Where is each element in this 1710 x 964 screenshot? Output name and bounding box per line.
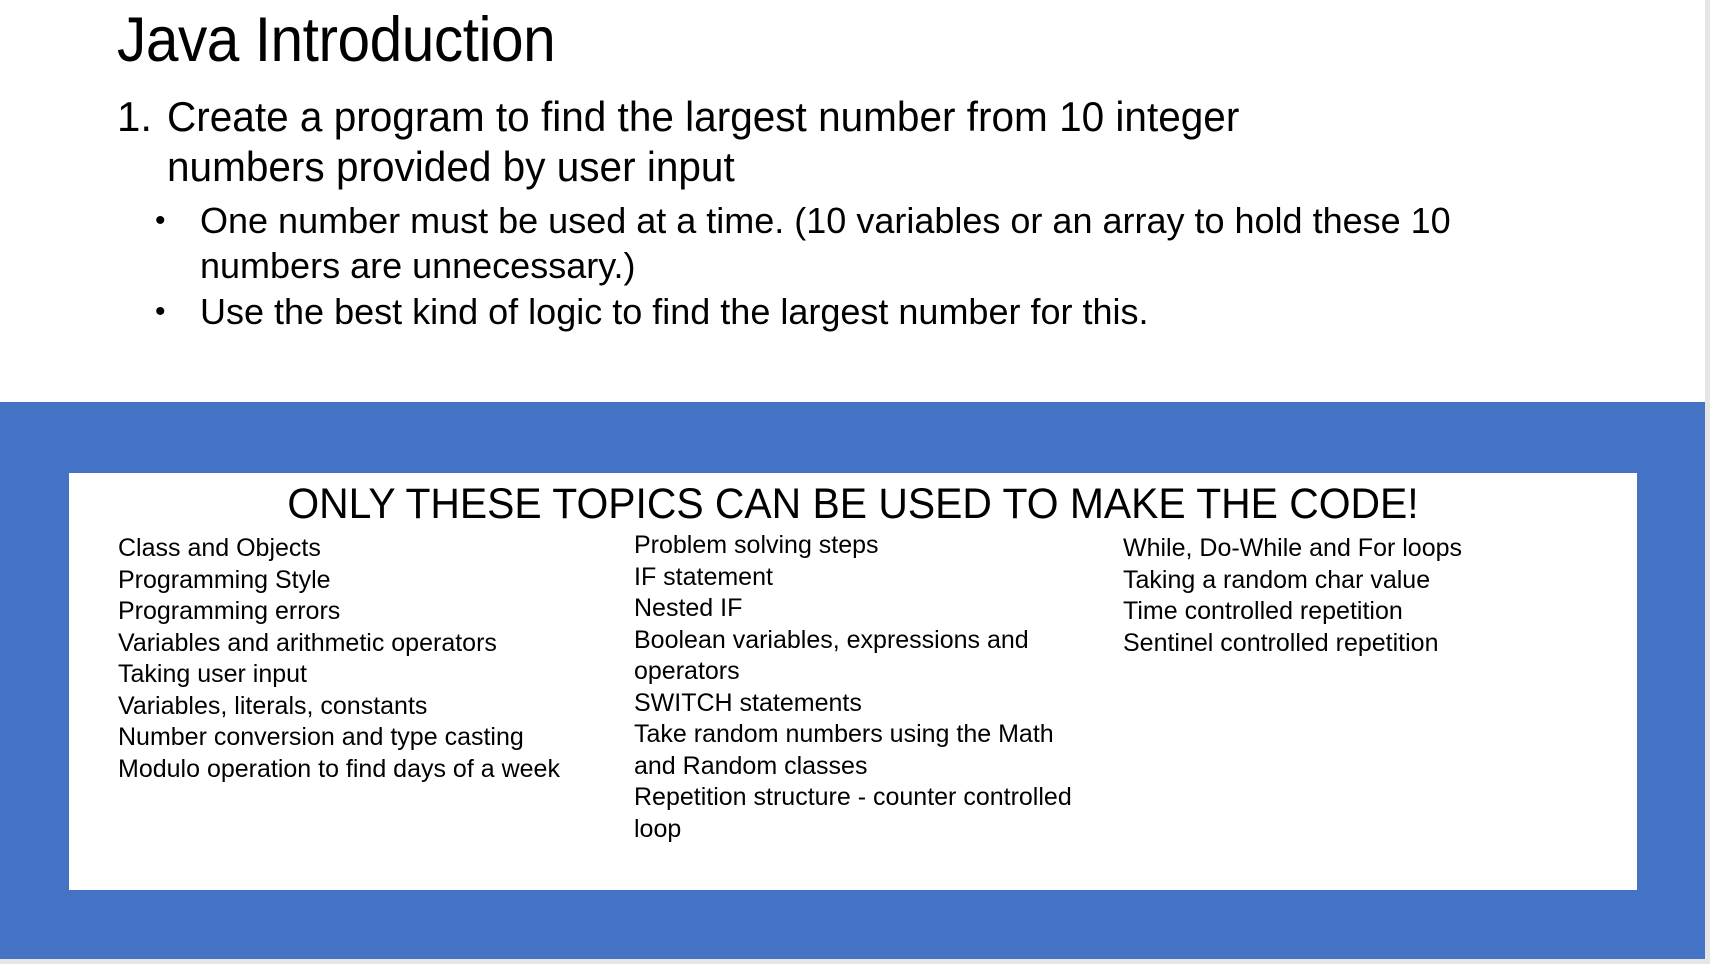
sub-bullet-list: • One number must be used at a time. (10… bbox=[155, 198, 1555, 335]
topic-item: Programming errors bbox=[118, 596, 588, 628]
topic-item: Sentinel controlled repetition bbox=[1123, 628, 1543, 660]
topic-item: Taking a random char value bbox=[1123, 565, 1543, 597]
topics-column-2: Problem solving steps IF statement Neste… bbox=[634, 530, 1099, 845]
topics-box: ONLY THESE TOPICS CAN BE USED TO MAKE TH… bbox=[69, 473, 1637, 890]
topic-item: SWITCH statements bbox=[634, 688, 1099, 720]
topic-item: Boolean variables, expressions and opera… bbox=[634, 625, 1099, 688]
numbered-list-item: 1. Create a program to find the largest … bbox=[117, 92, 1517, 192]
topic-item: Taking user input bbox=[118, 659, 588, 691]
page-title: Java Introduction bbox=[117, 4, 555, 76]
topic-item: Programming Style bbox=[118, 565, 588, 597]
topics-box-heading: ONLY THESE TOPICS CAN BE USED TO MAKE TH… bbox=[108, 479, 1598, 529]
slide-edge-bottom bbox=[0, 959, 1710, 964]
numbered-list: 1. Create a program to find the largest … bbox=[117, 92, 1517, 192]
topic-item: Modulo operation to find days of a week bbox=[118, 754, 588, 786]
bullet-dot-icon: • bbox=[155, 198, 200, 243]
topic-item: Repetition structure - counter controlle… bbox=[634, 782, 1099, 845]
numbered-list-item-text: Create a program to find the largest num… bbox=[167, 92, 1253, 192]
topic-item: Problem solving steps bbox=[634, 530, 1099, 562]
sub-bullet-item: • One number must be used at a time. (10… bbox=[155, 198, 1555, 288]
topics-columns: Class and Objects Programming Style Prog… bbox=[69, 533, 1637, 883]
bullet-dot-icon: • bbox=[155, 289, 200, 334]
list-number-marker: 1. bbox=[117, 92, 167, 142]
topic-item: Number conversion and type casting bbox=[118, 722, 588, 754]
topic-item: Time controlled repetition bbox=[1123, 596, 1543, 628]
topics-column-1: Class and Objects Programming Style Prog… bbox=[118, 533, 588, 785]
topics-column-3: While, Do-While and For loops Taking a r… bbox=[1123, 533, 1543, 659]
topic-item: Class and Objects bbox=[118, 533, 588, 565]
topic-item: Nested IF bbox=[634, 593, 1099, 625]
topic-item: Variables, literals, constants bbox=[118, 691, 588, 723]
slide-edge-right bbox=[1705, 0, 1710, 964]
sub-bullet-text: Use the best kind of logic to find the l… bbox=[200, 289, 1500, 334]
topic-item: Take random numbers using the Math and R… bbox=[634, 719, 1099, 782]
slide-canvas: Java Introduction 1. Create a program to… bbox=[0, 0, 1710, 964]
topic-item: IF statement bbox=[634, 562, 1099, 594]
sub-bullet-item: • Use the best kind of logic to find the… bbox=[155, 289, 1555, 334]
topic-item: Variables and arithmetic operators bbox=[118, 628, 588, 660]
topic-item: While, Do-While and For loops bbox=[1123, 533, 1543, 565]
sub-bullet-text: One number must be used at a time. (10 v… bbox=[200, 198, 1500, 288]
